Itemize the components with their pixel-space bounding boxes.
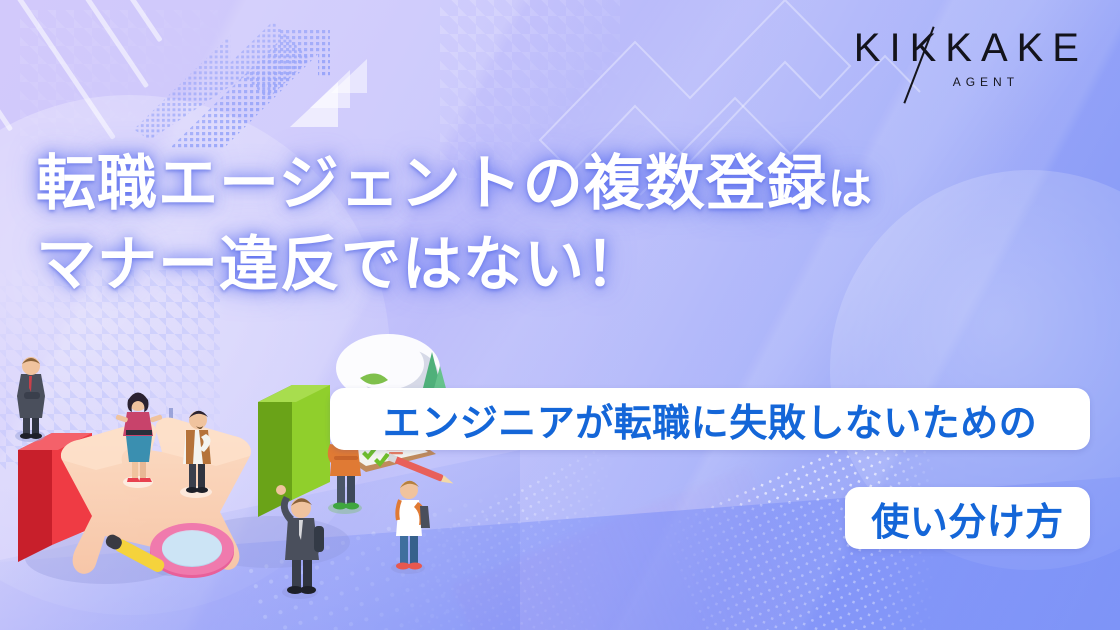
- triangle-decor-2: [310, 70, 350, 108]
- person-businessman-left: [15, 357, 45, 442]
- diagonal-stroke-4: [0, 50, 13, 132]
- hero-banner: KIKKAKE AGENT 転職エージェントの複数登録は マナー違反ではない！ …: [0, 0, 1120, 630]
- diagonal-stroke-3: [128, 0, 163, 42]
- checker-pattern-topleft: [20, 10, 220, 160]
- diagonal-stroke-2: [78, 0, 149, 88]
- triangle-decor-3: [331, 59, 367, 93]
- headline-line-1: 転職エージェントの複数登録は: [36, 150, 873, 217]
- subtitle-pill-primary: エンジニアが転職に失敗しないための: [330, 388, 1090, 450]
- headline-line-1-tail: は: [828, 165, 873, 214]
- brand-logo: KIKKAKE AGENT: [854, 28, 1088, 89]
- headline-block: 転職エージェントの複数登録は マナー違反ではない！: [36, 150, 873, 298]
- subtitle-pill-primary-label: エンジニアが転職に失敗しないための: [383, 392, 1038, 447]
- halftone-arrow-up-right-icon: [130, 18, 360, 168]
- isometric-illustration: [0, 330, 520, 630]
- triangle-decor-1: [290, 82, 338, 127]
- logo-wordmark: KIKKAKE: [854, 28, 1088, 68]
- subtitle-pill-secondary-label: 使い分け方: [871, 491, 1064, 546]
- headline-line-1-main: 転職エージェントの複数登録: [36, 150, 828, 217]
- subtitle-pill-secondary: 使い分け方: [845, 487, 1090, 549]
- headline-line-2: マナー違反ではない！: [36, 231, 873, 298]
- diagonal-stroke-1: [14, 0, 116, 140]
